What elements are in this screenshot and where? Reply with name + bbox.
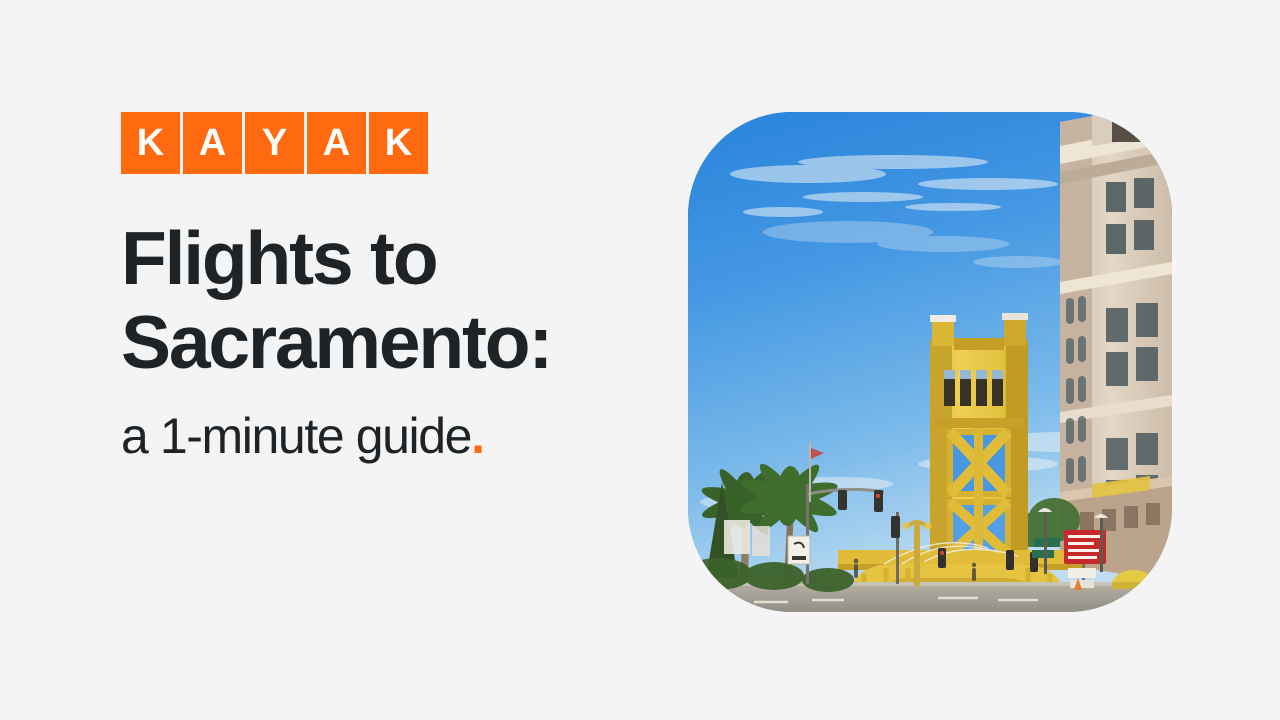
- sacramento-tower-bridge-illustration: [688, 112, 1172, 612]
- logo-tile-a1: A: [183, 112, 242, 174]
- page-title-line-1: Flights to: [121, 216, 661, 300]
- page-title: Flights to Sacramento:: [121, 216, 661, 384]
- logo-tile-a2: A: [307, 112, 366, 174]
- content-column: K A Y A K Flights to Sacramento: a 1-min…: [121, 112, 661, 466]
- logo-tile-k1: K: [121, 112, 180, 174]
- hero-photo: [688, 112, 1172, 612]
- page-title-line-2: Sacramento:: [121, 300, 661, 384]
- page-subtitle-text: a 1-minute guide: [121, 408, 471, 464]
- accent-period: .: [471, 408, 484, 464]
- logo-tile-y: Y: [245, 112, 304, 174]
- page-subtitle: a 1-minute guide.: [121, 406, 661, 466]
- kayak-logo[interactable]: K A Y A K: [121, 112, 661, 174]
- poster-canvas: K A Y A K Flights to Sacramento: a 1-min…: [0, 0, 1280, 720]
- logo-tile-k2: K: [369, 112, 428, 174]
